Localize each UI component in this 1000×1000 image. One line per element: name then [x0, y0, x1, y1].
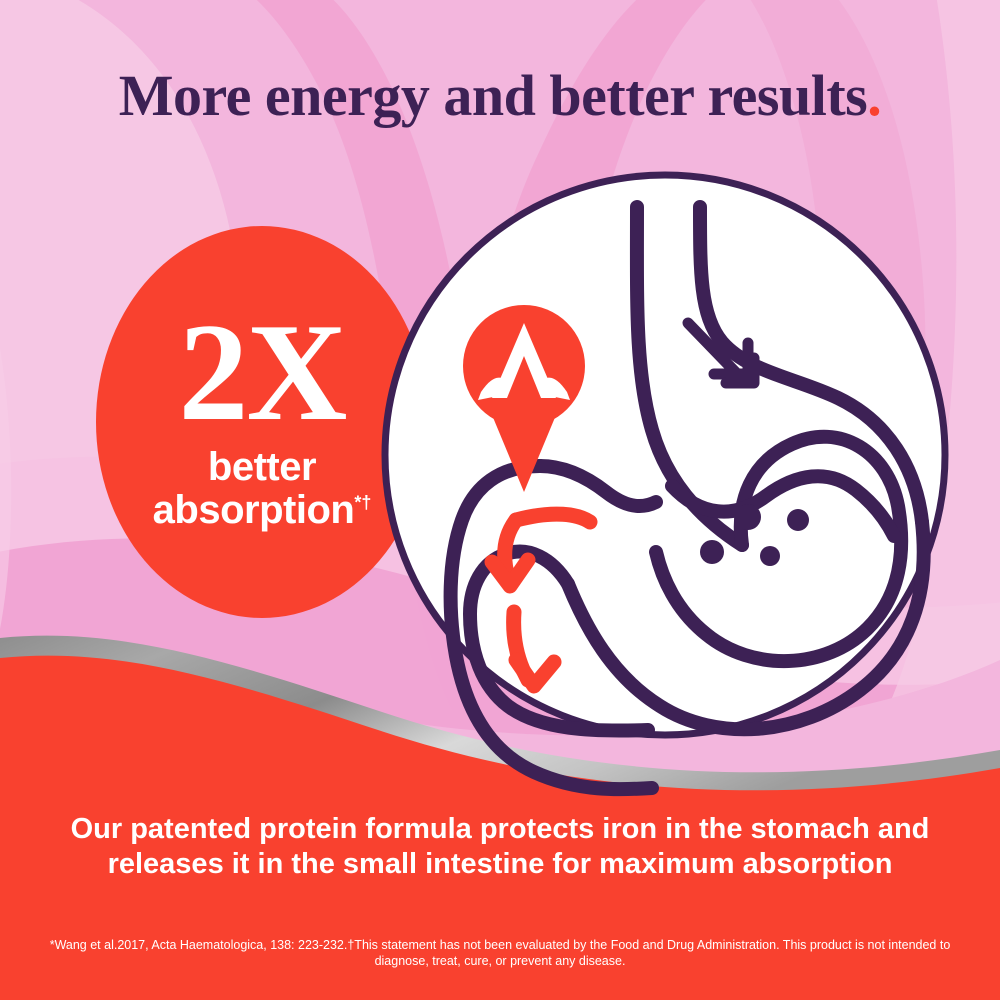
page-headline: More energy and better results.	[0, 62, 1000, 129]
footnote-disclaimer-text: *Wang et al.2017, Acta Haematologica, 13…	[34, 938, 966, 970]
headline-accent-period: .	[867, 63, 881, 128]
bottom-description-text: Our patented protein formula protects ir…	[44, 812, 956, 882]
headline-text: More energy and better results	[119, 63, 868, 128]
infographic-canvas: 2X better absorption*†	[0, 0, 1000, 1000]
